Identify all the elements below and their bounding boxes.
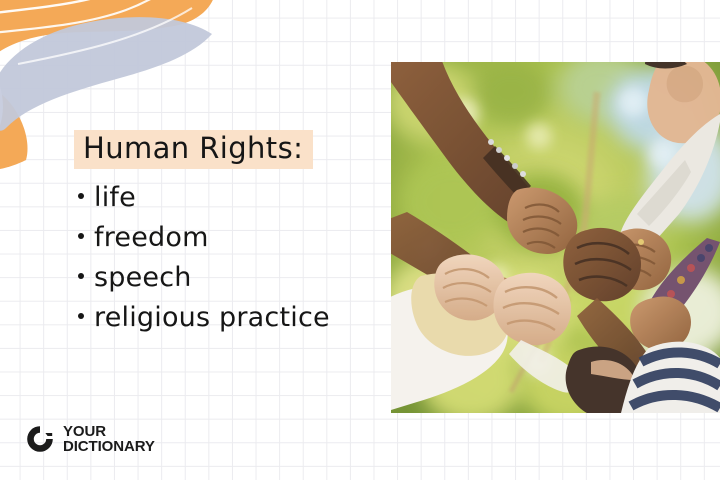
bullet-icon xyxy=(78,313,84,319)
list-item-label: speech xyxy=(94,262,192,293)
list-item: life xyxy=(78,182,330,222)
orange-leaf-blob-tail xyxy=(0,79,28,171)
list-item: freedom xyxy=(78,222,330,262)
blue-gray-leaf-blob xyxy=(0,17,212,131)
bullet-icon xyxy=(78,273,84,279)
bullet-icon xyxy=(78,193,84,199)
rights-list: life freedom speech religious practice xyxy=(78,182,330,342)
list-item-label: freedom xyxy=(94,222,209,253)
white-curved-line-3 xyxy=(18,8,192,64)
logo-line-2: DICTIONARY xyxy=(63,439,155,454)
list-item: religious practice xyxy=(78,302,330,342)
logo-line-1: YOUR xyxy=(63,424,155,439)
blue-gray-leaf-blob-small xyxy=(0,76,3,155)
heading: Human Rights: xyxy=(74,130,313,169)
bullet-icon xyxy=(78,233,84,239)
list-item-label: life xyxy=(94,182,136,213)
yourdictionary-logo: YOUR DICTIONARY xyxy=(25,424,155,454)
white-curved-line-1 xyxy=(0,0,216,32)
list-item-label: religious practice xyxy=(94,302,330,333)
photo-hands-in-circle xyxy=(391,62,720,413)
heading-text: Human Rights: xyxy=(83,131,303,165)
list-item: speech xyxy=(78,262,330,302)
poster-canvas: Human Rights: life freedom speech religi… xyxy=(0,0,720,480)
white-curved-line-2 xyxy=(0,0,236,48)
logo-wordmark: YOUR DICTIONARY xyxy=(63,424,155,454)
heading-highlight: Human Rights: xyxy=(74,130,313,169)
yourdictionary-q-mark xyxy=(25,424,55,454)
